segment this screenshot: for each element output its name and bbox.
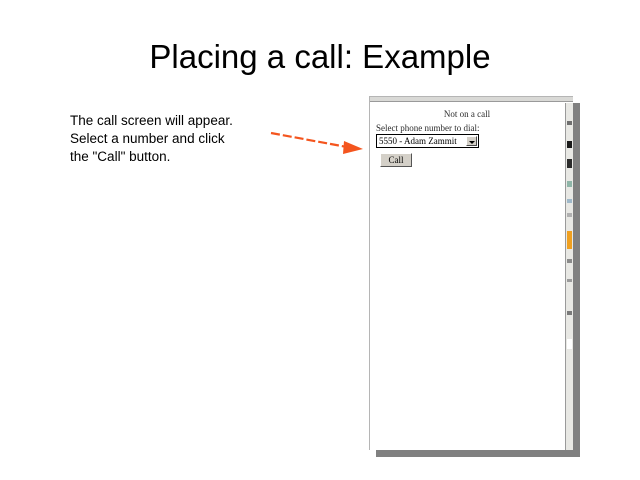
app-content-area: Not on a call Select phone number to dia… [370,103,564,450]
page-title: Placing a call: Example [0,38,640,76]
embedded-app-screenshot: Not on a call Select phone number to dia… [369,96,573,450]
app-window-frame: Not on a call Select phone number to dia… [369,96,573,450]
scrollbar-artifact [567,159,572,168]
scrollbar-artifact [567,141,572,148]
scrollbar-artifact [567,279,572,282]
body-line-2: Select a number and click [70,130,300,148]
scrollbar-artifact [567,121,572,125]
scrollbar-artifact [567,339,572,349]
body-line-1: The call screen will appear. [70,112,300,130]
phone-number-select[interactable]: 5550 - Adam Zammit [376,134,479,148]
app-window-titlebar-strip [370,97,573,102]
scrollbar-artifact [567,199,572,203]
scrollbar-thumb[interactable] [567,231,572,249]
phone-number-select-value: 5550 - Adam Zammit [377,135,478,147]
scrollbar-artifact [567,311,572,315]
phone-select-label: Select phone number to dial: [376,123,564,133]
scrollbar-artifact [567,181,572,187]
call-button[interactable]: Call [380,153,412,167]
body-text: The call screen will appear. Select a nu… [70,112,300,166]
scrollbar-artifact [567,259,572,263]
slide: Placing a call: Example The call screen … [0,0,640,480]
scrollbar-artifact [567,213,572,217]
chevron-down-icon[interactable] [466,136,477,146]
call-status-text: Not on a call [370,109,564,119]
body-line-3: the "Call" button. [70,148,300,166]
app-window-scrollbar[interactable] [565,103,573,450]
